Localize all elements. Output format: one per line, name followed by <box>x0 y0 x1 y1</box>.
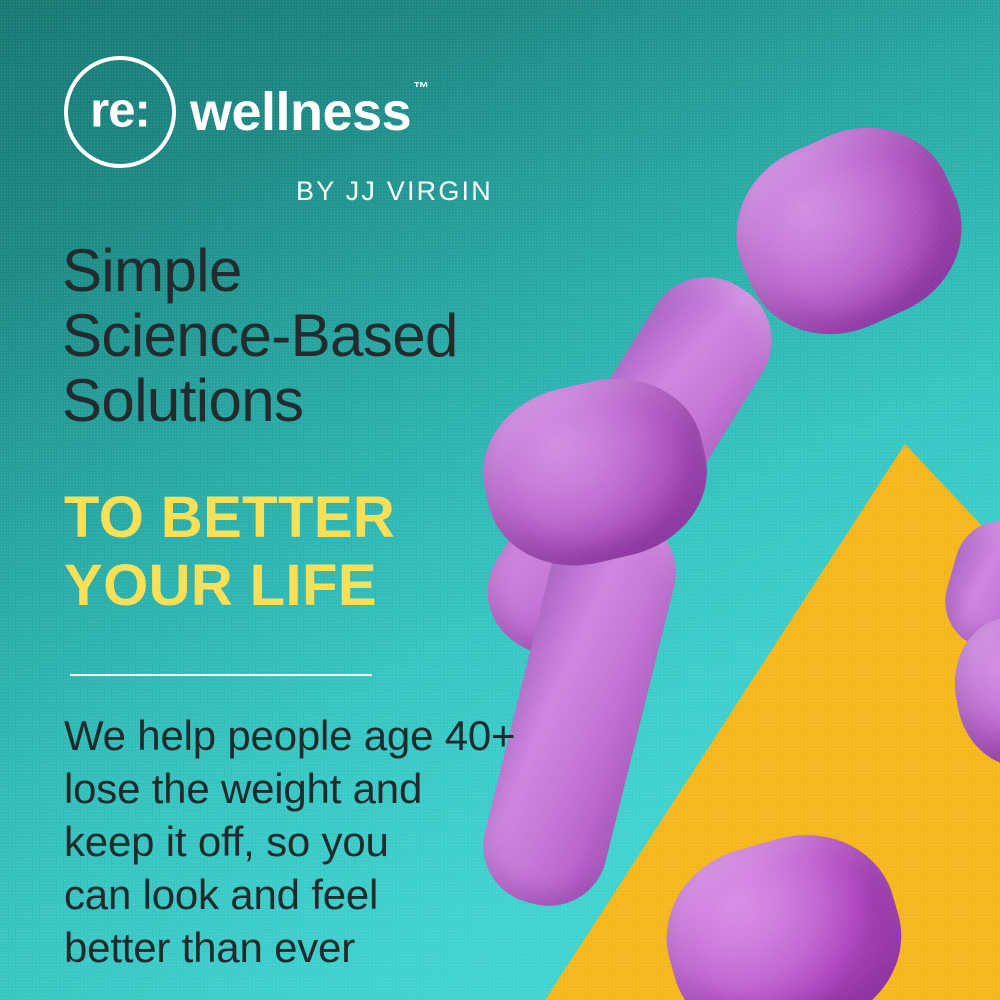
body-copy: We help people age 40+ lose the weight a… <box>64 710 515 975</box>
divider <box>70 674 372 676</box>
brand-logo: re: wellness™ BY JJ VIRGIN <box>64 56 493 207</box>
logo-mark-text: re: <box>90 87 150 136</box>
re-circle-icon: re: <box>64 56 176 168</box>
content-layer: re: wellness™ BY JJ VIRGIN Simple Scienc… <box>0 0 1000 1000</box>
promo-graphic: re: wellness™ BY JJ VIRGIN Simple Scienc… <box>0 0 1000 1000</box>
accent-headline: TO BETTER YOUR LIFE <box>64 484 395 620</box>
logo-lockup: re: wellness™ <box>64 56 493 168</box>
brand-byline: BY JJ VIRGIN <box>296 176 493 207</box>
logo-wordmark: wellness™ <box>190 85 427 139</box>
page-title: Simple Science-Based Solutions <box>62 238 458 433</box>
logo-wordmark-text: wellness <box>190 82 411 142</box>
trademark-icon: ™ <box>413 80 429 97</box>
